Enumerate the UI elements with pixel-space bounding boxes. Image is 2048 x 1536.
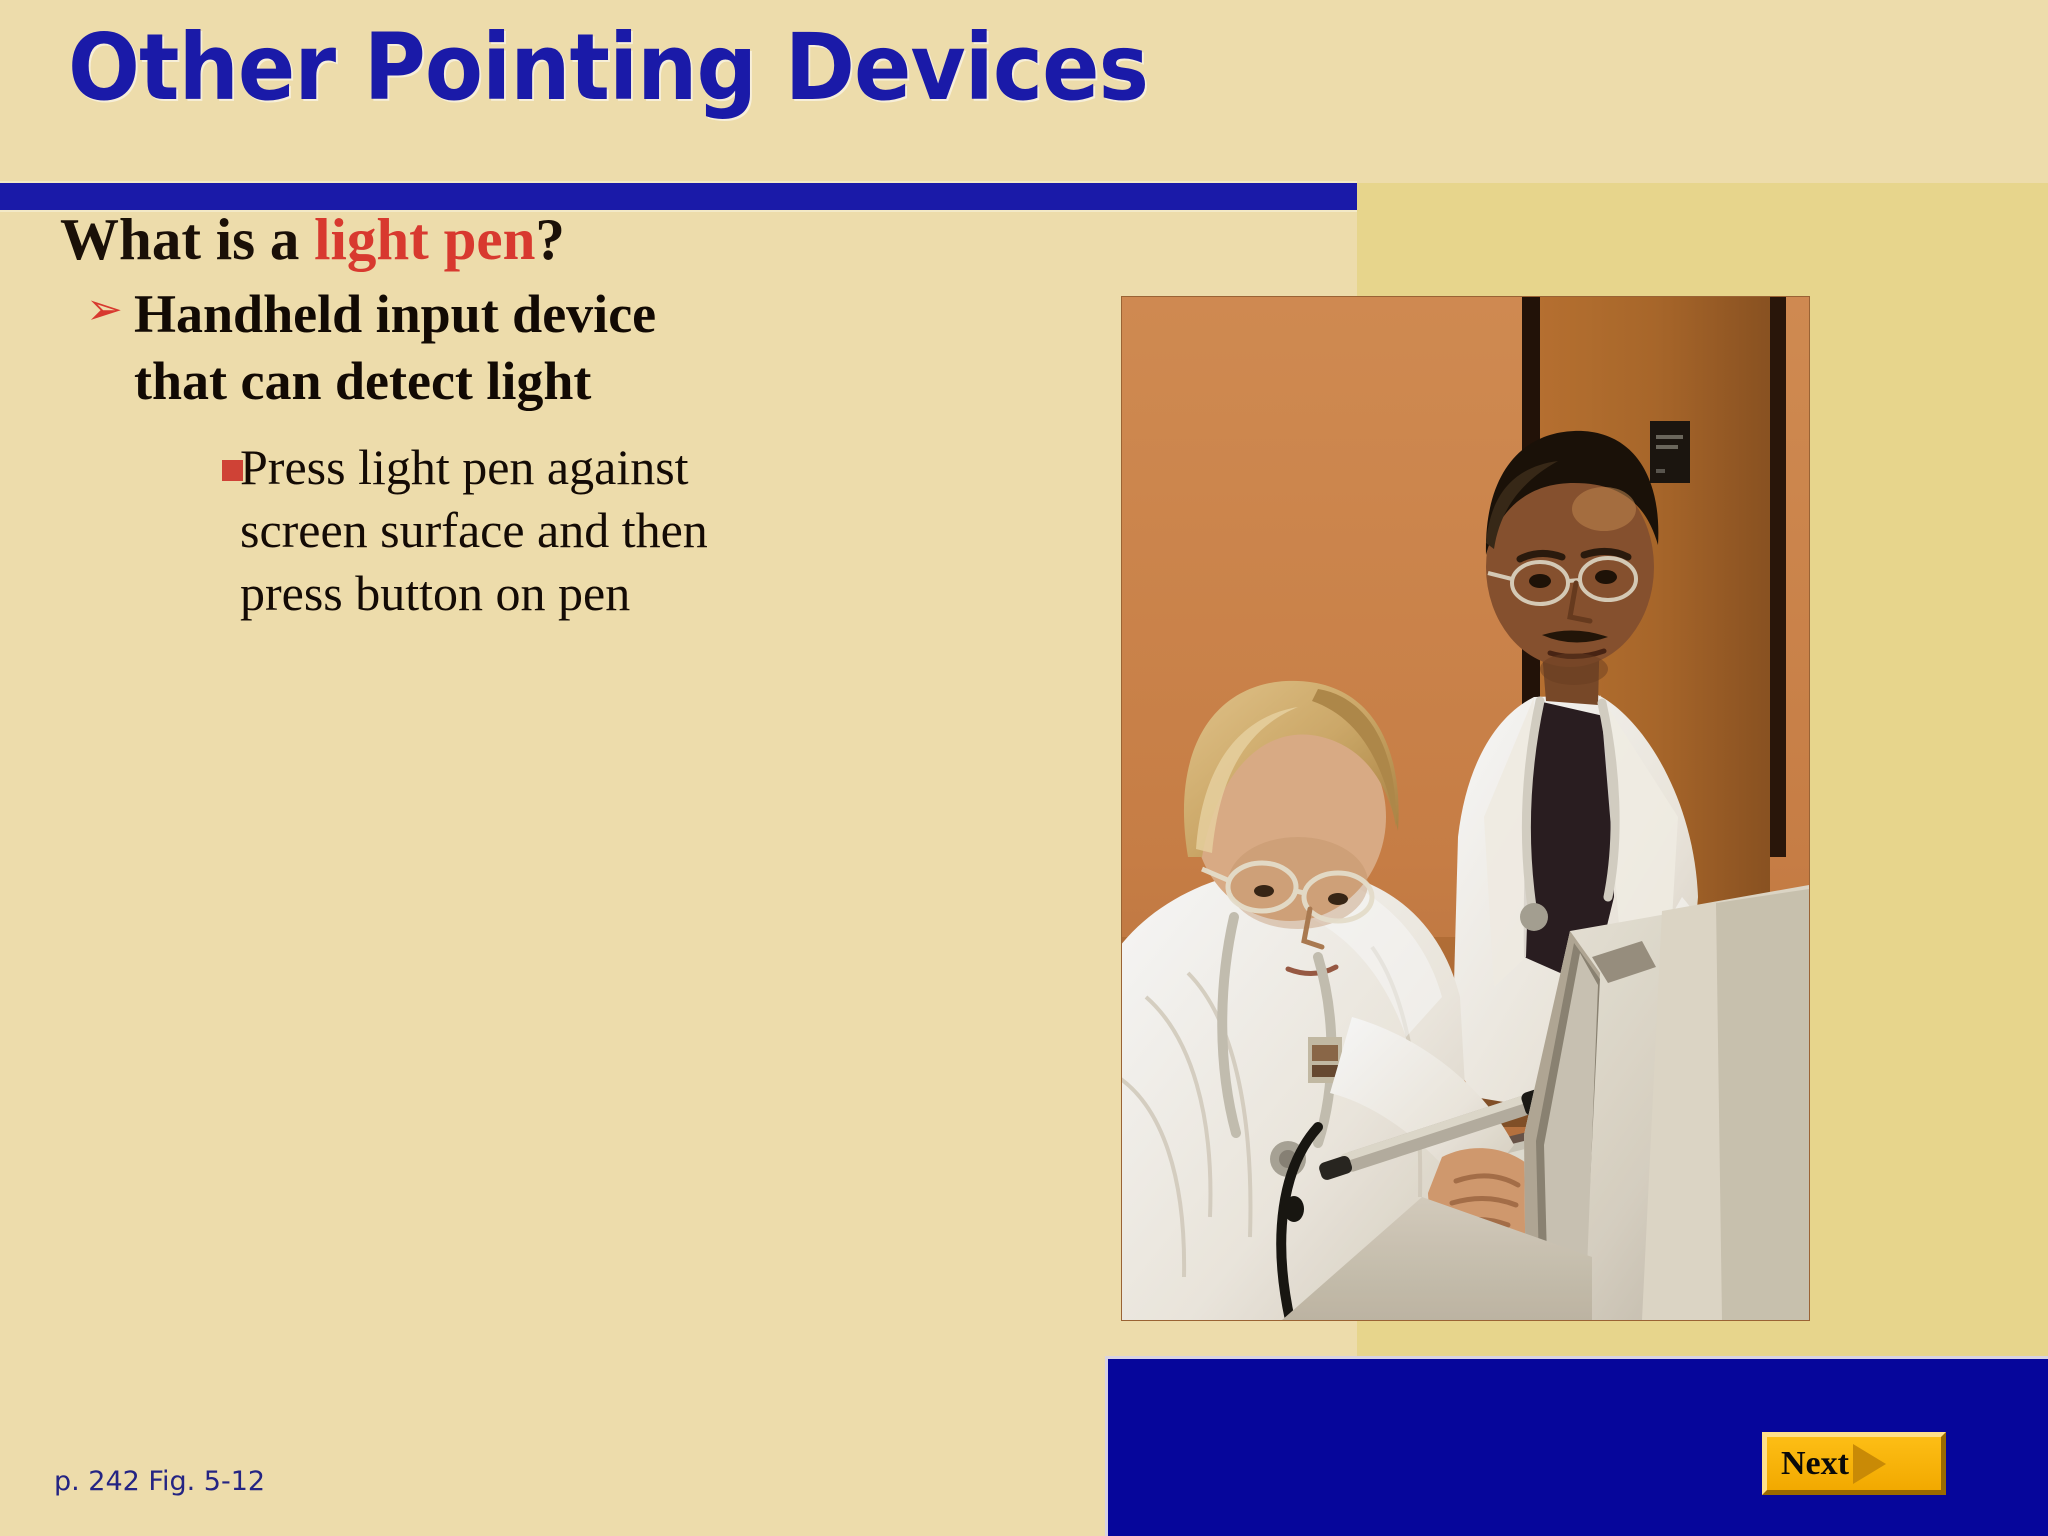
- slide-body: What is a light pen? ➢ Handheld input de…: [60, 205, 1080, 625]
- next-button-label: Next: [1781, 1447, 1849, 1481]
- heading-term: light pen: [314, 206, 535, 272]
- square-bullet-icon: [60, 436, 240, 481]
- heading-prefix: What is a: [60, 206, 314, 272]
- bullet-level3-text: Press light pen against screen surface a…: [240, 436, 780, 625]
- heading-suffix: ?: [535, 206, 565, 272]
- arrow-bullet-icon: ➢: [60, 281, 134, 338]
- next-button[interactable]: Next: [1762, 1432, 1946, 1495]
- figure-reference: p. 242 Fig. 5-12: [54, 1466, 265, 1497]
- page-title: Other Pointing Devices: [68, 16, 1148, 119]
- figure-photo: [1122, 297, 1809, 1320]
- bullet-level2: ➢ Handheld input device that can detect …: [60, 281, 1080, 416]
- play-triangle-icon: [1853, 1444, 1886, 1484]
- body-heading: What is a light pen?: [60, 205, 1080, 275]
- bullet-level2-text: Handheld input device that can detect li…: [134, 281, 744, 416]
- bullet-level3: Press light pen against screen surface a…: [60, 436, 1080, 625]
